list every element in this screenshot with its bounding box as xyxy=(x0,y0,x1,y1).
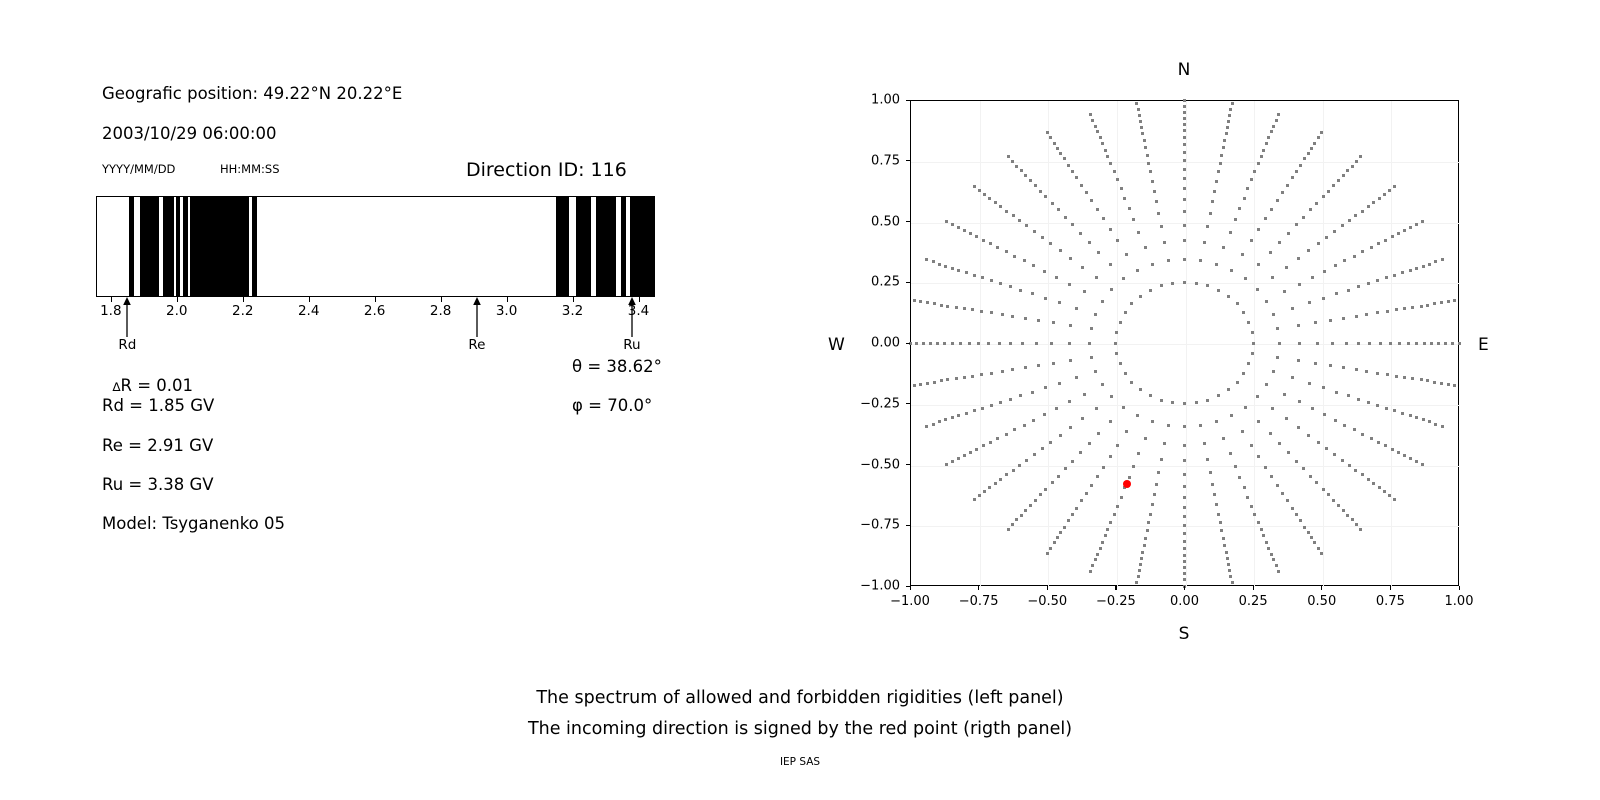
direction-dot xyxy=(1327,190,1330,193)
direction-dot xyxy=(1021,342,1024,345)
direction-dot xyxy=(1069,257,1072,260)
direction-dot xyxy=(1090,356,1093,359)
direction-dot xyxy=(1033,453,1036,456)
forbidden-band xyxy=(630,197,655,296)
direction-dot xyxy=(1109,420,1112,423)
direction-dot xyxy=(1437,342,1440,345)
direction-dot xyxy=(1138,114,1141,117)
param-rd: Rd = 1.85 GV xyxy=(102,396,214,415)
forbidden-band xyxy=(252,197,257,296)
caption-line-1: The spectrum of allowed and forbidden ri… xyxy=(0,688,1600,708)
forbidden-band xyxy=(190,197,249,296)
direction-dot xyxy=(1213,493,1216,496)
direction-dot xyxy=(1041,447,1044,450)
direction-dot xyxy=(1009,398,1012,401)
direction-dot xyxy=(1251,331,1254,334)
direction-dot xyxy=(1140,126,1143,129)
direction-dot xyxy=(1335,391,1338,394)
direction-dot xyxy=(1433,381,1436,384)
y-tick xyxy=(906,221,910,222)
direction-dot xyxy=(932,423,935,426)
direction-dot xyxy=(1420,305,1423,308)
direction-dot xyxy=(1199,259,1202,262)
direction-dot xyxy=(1393,185,1396,188)
direction-dot xyxy=(1069,359,1072,362)
direction-dot xyxy=(1332,499,1335,502)
direction-dot xyxy=(1297,426,1300,429)
y-tick xyxy=(906,525,910,526)
direction-dot xyxy=(1183,168,1186,171)
direction-dot xyxy=(1409,414,1412,417)
direction-dot xyxy=(1013,255,1016,258)
direction-dot xyxy=(1144,146,1147,149)
direction-dot xyxy=(973,409,976,412)
direction-dot xyxy=(926,382,929,385)
direction-dot xyxy=(1250,239,1253,242)
direction-dot xyxy=(1238,207,1241,210)
direction-dot xyxy=(1257,263,1260,266)
direction-dot xyxy=(1367,401,1370,404)
direction-dot xyxy=(1334,264,1337,267)
direction-dot xyxy=(1386,373,1389,376)
direction-dot xyxy=(1137,452,1140,455)
direction-dot xyxy=(1130,302,1133,305)
direction-dot xyxy=(929,342,932,345)
direction-dot xyxy=(1007,528,1010,531)
direction-dot xyxy=(1376,372,1379,375)
direction-dot xyxy=(1009,285,1012,288)
direction-dot xyxy=(1080,499,1083,502)
direction-dot xyxy=(1422,265,1425,268)
direction-dot xyxy=(1183,177,1186,180)
direction-dot xyxy=(1441,258,1444,261)
direction-dot xyxy=(1044,386,1047,389)
direction-dot xyxy=(1155,483,1158,486)
direction-dot xyxy=(913,384,916,387)
rigidity-spectrum-chart: 1.82.02.22.42.62.83.03.23.4 RdReRu xyxy=(96,196,655,297)
direction-dot xyxy=(1365,313,1368,316)
direction-dot xyxy=(1267,136,1270,139)
direction-dot xyxy=(1137,108,1140,111)
direction-dot xyxy=(1183,560,1186,563)
direction-dot xyxy=(1005,250,1008,253)
direction-dot xyxy=(1037,364,1040,367)
direction-dot xyxy=(1114,342,1117,345)
direction-dot xyxy=(1104,534,1107,537)
direction-dot xyxy=(1206,284,1209,287)
direction-dot xyxy=(1307,249,1310,252)
direction-dot xyxy=(1354,214,1357,217)
direction-dot xyxy=(1252,342,1255,345)
direction-dot xyxy=(1183,123,1186,126)
direction-dot xyxy=(982,239,985,242)
direction-dot xyxy=(1341,459,1344,462)
direction-dot xyxy=(1285,417,1288,420)
direction-dot xyxy=(1270,208,1273,211)
direction-dot xyxy=(1057,208,1060,211)
direction-dot xyxy=(963,229,966,232)
direction-dot xyxy=(1153,493,1156,496)
direction-dot xyxy=(1309,475,1312,478)
direction-dot xyxy=(1102,217,1105,220)
direction-dot xyxy=(1046,552,1049,555)
direction-dot xyxy=(1183,105,1186,108)
direction-dot xyxy=(1409,226,1412,229)
y-tick-label: −0.25 xyxy=(842,396,900,411)
polar-plot-area xyxy=(910,100,1459,586)
direction-dot xyxy=(983,193,986,196)
direction-dot xyxy=(1146,529,1149,532)
direction-dot xyxy=(1320,552,1323,555)
direction-dot xyxy=(1109,455,1112,458)
direction-dot xyxy=(1013,428,1016,431)
direction-dot xyxy=(1388,189,1391,192)
direction-dot xyxy=(1389,342,1392,345)
direction-dot xyxy=(1342,317,1345,320)
direction-dot xyxy=(1031,391,1034,394)
direction-dot xyxy=(1355,523,1358,526)
direction-dot xyxy=(1109,228,1112,231)
direction-dot xyxy=(1171,401,1174,404)
direction-dot xyxy=(932,260,935,263)
direction-dot xyxy=(1421,220,1424,223)
direction-dot xyxy=(1244,277,1247,280)
direction-dot xyxy=(944,418,947,421)
direction-dot xyxy=(1044,297,1047,300)
direction-dot xyxy=(1278,442,1281,445)
direction-dot xyxy=(1253,513,1256,516)
direction-dot xyxy=(1434,423,1437,426)
direction-dot xyxy=(1272,313,1275,316)
direction-dot xyxy=(1025,459,1028,462)
direction-dot xyxy=(1183,99,1186,102)
direction-dot xyxy=(913,299,916,302)
direction-dot xyxy=(1253,170,1256,173)
direction-dot xyxy=(989,242,992,245)
direction-dot xyxy=(957,269,960,272)
direction-dot xyxy=(1337,504,1340,507)
direction-dot xyxy=(1376,279,1379,282)
direction-dot xyxy=(1426,304,1429,307)
direction-dot xyxy=(1359,155,1362,158)
direction-dot xyxy=(990,404,993,407)
direction-dot xyxy=(1361,250,1364,253)
direction-dot xyxy=(978,189,981,192)
direction-dot xyxy=(998,342,1001,345)
direction-dot xyxy=(1225,132,1228,135)
direction-dot xyxy=(996,437,999,440)
direction-dot xyxy=(1032,264,1035,267)
direction-dot xyxy=(1141,551,1144,554)
y-tick xyxy=(906,100,910,101)
direction-dot xyxy=(1370,246,1373,249)
direction-dot xyxy=(1149,170,1152,173)
direction-dot xyxy=(1183,136,1186,139)
direction-dot xyxy=(1264,217,1267,220)
direction-dot xyxy=(1342,509,1345,512)
direction-dot xyxy=(1104,149,1107,152)
direction-dot xyxy=(1128,207,1131,210)
direction-dot xyxy=(1183,572,1186,575)
direction-dot xyxy=(1229,452,1232,455)
direction-dot xyxy=(1315,481,1318,484)
direction-dot xyxy=(1090,484,1093,487)
direction-dot xyxy=(1234,218,1237,221)
forbidden-band xyxy=(556,197,569,296)
x-tick-label: 2.6 xyxy=(364,303,385,319)
direction-dot xyxy=(990,372,993,375)
y-tick-label: 0.25 xyxy=(842,275,900,290)
direction-dot xyxy=(969,451,972,454)
direction-dot xyxy=(1120,187,1123,190)
direction-dot xyxy=(1275,564,1278,567)
direction-dot xyxy=(1325,236,1328,239)
direction-dot xyxy=(1183,554,1186,557)
direction-dot xyxy=(1260,528,1263,531)
direction-dot xyxy=(1401,271,1404,274)
y-tick-label: 0.50 xyxy=(842,214,900,229)
direction-dot xyxy=(1183,540,1186,543)
direction-dot xyxy=(1012,214,1015,217)
direction-dot xyxy=(1144,246,1147,249)
direction-dot xyxy=(1044,488,1047,491)
direction-dot xyxy=(1295,513,1298,516)
direction-dot xyxy=(1058,301,1061,304)
direction-dot xyxy=(1367,282,1370,285)
direction-dot xyxy=(999,478,1002,481)
direction-dot xyxy=(1308,301,1311,304)
direction-dot xyxy=(1053,142,1056,145)
direction-dot xyxy=(1099,136,1102,139)
direction-dot xyxy=(971,308,974,311)
direction-dot xyxy=(1421,463,1424,466)
direction-dot xyxy=(1059,434,1062,437)
direction-dot xyxy=(1302,467,1305,470)
direction-dot xyxy=(1183,524,1186,527)
direction-dot xyxy=(936,342,939,345)
direction-dot xyxy=(999,205,1002,208)
direction-dot xyxy=(1102,466,1105,469)
direction-dot xyxy=(980,373,983,376)
direction-dot xyxy=(1223,139,1226,142)
direction-dot xyxy=(1001,313,1004,316)
direction-dot xyxy=(1277,113,1280,116)
direction-dot xyxy=(1395,375,1398,378)
x-tick xyxy=(243,297,244,302)
direction-dot xyxy=(1049,136,1052,139)
param-theta: θ = 38.62° xyxy=(572,357,662,376)
direction-dot xyxy=(990,311,993,314)
direction-dot xyxy=(1428,420,1431,423)
direction-dot xyxy=(1286,499,1289,502)
direction-dot xyxy=(1147,521,1150,524)
direction-dot xyxy=(1265,383,1268,386)
direction-dot xyxy=(1257,420,1260,423)
direction-dot xyxy=(1213,190,1216,193)
direction-dot xyxy=(1265,142,1268,145)
direction-dot xyxy=(1109,263,1112,266)
direction-dot xyxy=(1357,285,1360,288)
direction-dot xyxy=(963,307,966,310)
direction-dot xyxy=(1183,496,1186,499)
direction-dot xyxy=(1298,283,1301,286)
direction-dot xyxy=(1260,155,1263,158)
direction-dot xyxy=(957,226,960,229)
direction-dot xyxy=(1423,342,1426,345)
direction-dot xyxy=(1209,471,1212,474)
x-tick xyxy=(639,297,640,302)
direction-dot xyxy=(1209,212,1212,215)
direction-dot xyxy=(1056,536,1059,539)
direction-dot xyxy=(1343,424,1346,427)
direction-dot xyxy=(1222,437,1225,440)
direction-dot xyxy=(938,420,941,423)
direction-dot xyxy=(1314,362,1317,365)
forbidden-band xyxy=(596,197,616,296)
direction-dot xyxy=(1257,455,1260,458)
direction-dot xyxy=(1227,563,1230,566)
x-tick xyxy=(1459,586,1460,590)
direction-dot xyxy=(1315,202,1318,205)
direction-dot xyxy=(1183,566,1186,569)
direction-dot xyxy=(943,342,946,345)
direction-dot xyxy=(1143,139,1146,142)
direction-dot xyxy=(1139,563,1142,566)
direction-dot xyxy=(1270,553,1273,556)
direction-dot xyxy=(1195,282,1198,285)
direction-dot xyxy=(946,378,949,381)
direction-dot xyxy=(1299,164,1302,167)
direction-dot xyxy=(1056,147,1059,150)
direction-dot xyxy=(1140,557,1143,560)
direction-dot xyxy=(1046,131,1049,134)
direction-dot xyxy=(1403,229,1406,232)
param-phi: φ = 70.0° xyxy=(572,396,652,415)
direction-dot xyxy=(1215,420,1218,423)
direction-dot xyxy=(1122,406,1125,409)
direction-dot xyxy=(1183,143,1186,146)
direction-dot xyxy=(919,300,922,303)
direction-dot xyxy=(1265,300,1268,303)
direction-dot xyxy=(922,342,925,345)
direction-dot xyxy=(988,486,991,489)
y-tick xyxy=(906,282,910,283)
direction-dot xyxy=(1444,342,1447,345)
direction-dot xyxy=(1120,496,1123,499)
direction-dot xyxy=(1346,514,1349,517)
direction-dot xyxy=(1403,376,1406,379)
direction-dot xyxy=(1151,180,1154,183)
direction-dot xyxy=(1385,407,1388,410)
direction-dot xyxy=(1342,366,1345,369)
direction-dot xyxy=(1183,515,1186,518)
direction-dot xyxy=(1116,178,1119,181)
direction-dot xyxy=(1428,263,1431,266)
horizontal-gridline xyxy=(911,466,1460,467)
direction-dot xyxy=(1327,493,1330,496)
incoming-direction-point xyxy=(1123,480,1131,488)
direction-dot xyxy=(1272,370,1275,373)
marker-arrow-rd xyxy=(121,297,133,337)
direction-dot xyxy=(1440,382,1443,385)
direction-dot xyxy=(1135,581,1138,584)
direction-dot xyxy=(1123,197,1126,200)
direction-dot xyxy=(1094,125,1097,128)
direction-dot xyxy=(1137,231,1140,234)
direction-dot xyxy=(1347,394,1350,397)
direction-dot xyxy=(1269,432,1272,435)
direction-dot xyxy=(999,282,1002,285)
direction-dot xyxy=(940,379,943,382)
direction-dot xyxy=(1236,302,1239,305)
direction-dot xyxy=(1029,179,1032,182)
direction-dot xyxy=(1241,253,1244,256)
direction-dot xyxy=(1096,475,1099,478)
direction-dot xyxy=(1099,547,1102,550)
direction-dot xyxy=(1227,295,1230,298)
param-delta-r-value: R = 0.01 xyxy=(121,376,194,395)
direction-dot xyxy=(1271,407,1274,410)
direction-dot xyxy=(1397,232,1400,235)
direction-dot xyxy=(1376,404,1379,407)
direction-dot xyxy=(1332,184,1335,187)
direction-dot xyxy=(1309,208,1312,211)
direction-dot xyxy=(1137,575,1140,578)
direction-dot xyxy=(1229,108,1232,111)
asymptotic-direction-chart xyxy=(910,100,1459,586)
direction-dot xyxy=(1378,486,1381,489)
direction-dot xyxy=(1242,311,1245,314)
direction-dot xyxy=(1378,197,1381,200)
direction-dot xyxy=(1353,255,1356,258)
direction-dot xyxy=(1246,187,1249,190)
direction-dot xyxy=(1299,519,1302,522)
direction-dot xyxy=(1298,342,1301,345)
marker-label-rd: Rd xyxy=(118,337,136,353)
marker-label-ru: Ru xyxy=(623,337,640,353)
direction-dot xyxy=(1018,464,1021,467)
direction-dot xyxy=(1286,184,1289,187)
direction-dot xyxy=(1183,224,1186,227)
direction-dot xyxy=(1096,553,1099,556)
direction-dot xyxy=(1183,239,1186,242)
direction-dot xyxy=(1228,569,1231,572)
direction-dot xyxy=(1297,257,1300,260)
direction-dot xyxy=(1355,160,1358,163)
direction-dot xyxy=(1257,228,1260,231)
direction-dot xyxy=(1322,195,1325,198)
direction-dot xyxy=(1052,321,1055,324)
direction-dot xyxy=(1124,372,1127,375)
direction-dot xyxy=(1230,414,1233,417)
direction-dot xyxy=(1368,342,1371,345)
direction-dot xyxy=(1361,473,1364,476)
direction-dot xyxy=(1434,260,1437,263)
x-tick-label: 2.8 xyxy=(430,303,451,319)
direction-dot xyxy=(1348,464,1351,467)
direction-dot xyxy=(1447,300,1450,303)
x-tick xyxy=(375,297,376,302)
direction-dot xyxy=(1068,400,1071,403)
direction-dot xyxy=(1314,321,1317,324)
direction-dot xyxy=(1044,195,1047,198)
direction-dot xyxy=(1440,301,1443,304)
direction-dot xyxy=(1183,187,1186,190)
direction-dot xyxy=(1227,388,1230,391)
direction-dot xyxy=(1025,224,1028,227)
direction-dot xyxy=(1035,342,1038,345)
x-tick-label: 0.00 xyxy=(1170,594,1199,609)
